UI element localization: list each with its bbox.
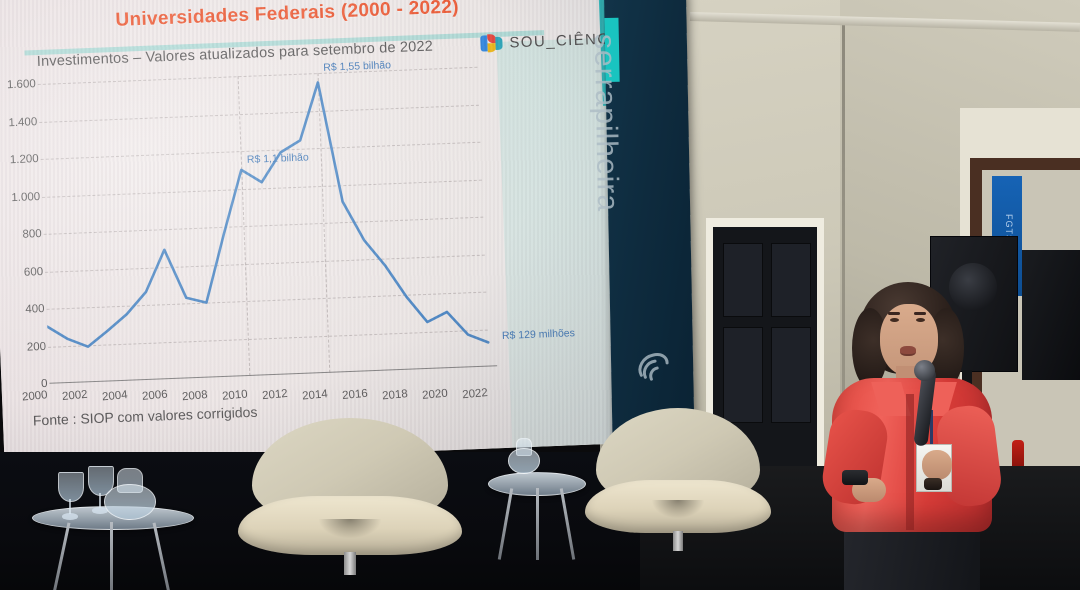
eye-right [916, 318, 925, 322]
x-tick-label: 2004 [102, 389, 129, 403]
drinking-glass-1 [58, 472, 82, 520]
presenter [818, 282, 1008, 590]
serrapilheira-banner: serrapilheira [604, 0, 695, 464]
chart-series-svg [38, 66, 497, 383]
chair-shadow [319, 519, 382, 539]
glass-foot [62, 513, 78, 520]
x-tick-label: 2012 [262, 388, 289, 402]
y-tick-label: 800 [22, 228, 42, 241]
table-leg [153, 522, 171, 590]
glass-stem [69, 499, 72, 514]
mouth [900, 346, 916, 356]
y-tick-label: 600 [24, 265, 44, 278]
x-tick-label: 2016 [342, 388, 369, 402]
poster-text: FGTS [1004, 214, 1014, 222]
presentation-clicker [842, 470, 868, 485]
door-panel [771, 327, 811, 423]
y-tick-label: 400 [25, 303, 45, 316]
eyebrow-right [914, 312, 926, 315]
glass-stem [99, 493, 102, 508]
chair-base [344, 552, 356, 574]
y-tick-label: 1.400 [8, 116, 37, 129]
projection-screen: Investimentos : Universidades Federais (… [0, 0, 644, 468]
water-carafe-left [104, 468, 154, 520]
serrapilheira-swirl-icon [633, 345, 674, 386]
y-tick-label: 1.000 [11, 191, 40, 204]
microphone-head-icon [914, 360, 935, 381]
water-carafe-center [508, 438, 538, 474]
conference-photo-scene: FGTS Investimentos : Universidades Feder… [0, 0, 1080, 590]
banner-text: serrapilheira [587, 34, 627, 365]
x-tick-label: 2006 [142, 389, 169, 403]
x-tick-label: 2020 [422, 388, 449, 402]
eyebrow-left [888, 312, 900, 315]
y-tick-label: 1.600 [7, 78, 36, 91]
table-leg [53, 522, 71, 590]
blouse-placket [906, 394, 914, 530]
chair-base [673, 531, 683, 551]
carafe-bowl [508, 448, 540, 474]
x-tick-label: 2014 [302, 388, 329, 402]
chair-shadow [652, 500, 704, 518]
glass-bowl [58, 472, 84, 502]
chart-annotation: R$ 1,1 bilhão [247, 151, 309, 165]
x-tick-label: 2010 [222, 388, 249, 402]
slide: Investimentos : Universidades Federais (… [0, 0, 644, 468]
y-tick-label: 1.200 [10, 153, 39, 166]
eye-left [890, 318, 899, 322]
x-tick-label: 2022 [462, 387, 489, 401]
x-tick-label: 2000 [21, 389, 48, 403]
x-tick-label: 2008 [182, 389, 209, 403]
slide-title: Investimentos : Universidades Federais (… [86, 0, 488, 34]
carafe-bowl [104, 484, 156, 520]
lounge-chair-left [252, 418, 448, 558]
sou-ciencia-logo-icon [480, 34, 503, 53]
pa-speaker-side [1022, 250, 1080, 380]
lounge-chair-right [596, 408, 760, 536]
hand-right [922, 450, 952, 480]
y-tick-label: 200 [27, 340, 47, 353]
x-tick-label: 2018 [382, 388, 409, 402]
side-table-center [488, 472, 584, 544]
door-panel [771, 243, 811, 317]
table-leg [110, 522, 113, 590]
wristwatch [924, 478, 942, 490]
trousers [844, 522, 980, 590]
x-tick-label: 2002 [62, 389, 89, 403]
door-panel [723, 243, 763, 317]
line-chart: 02004006008001.0001.2001.4001.600 200020… [38, 67, 489, 384]
table-leg [536, 488, 539, 560]
